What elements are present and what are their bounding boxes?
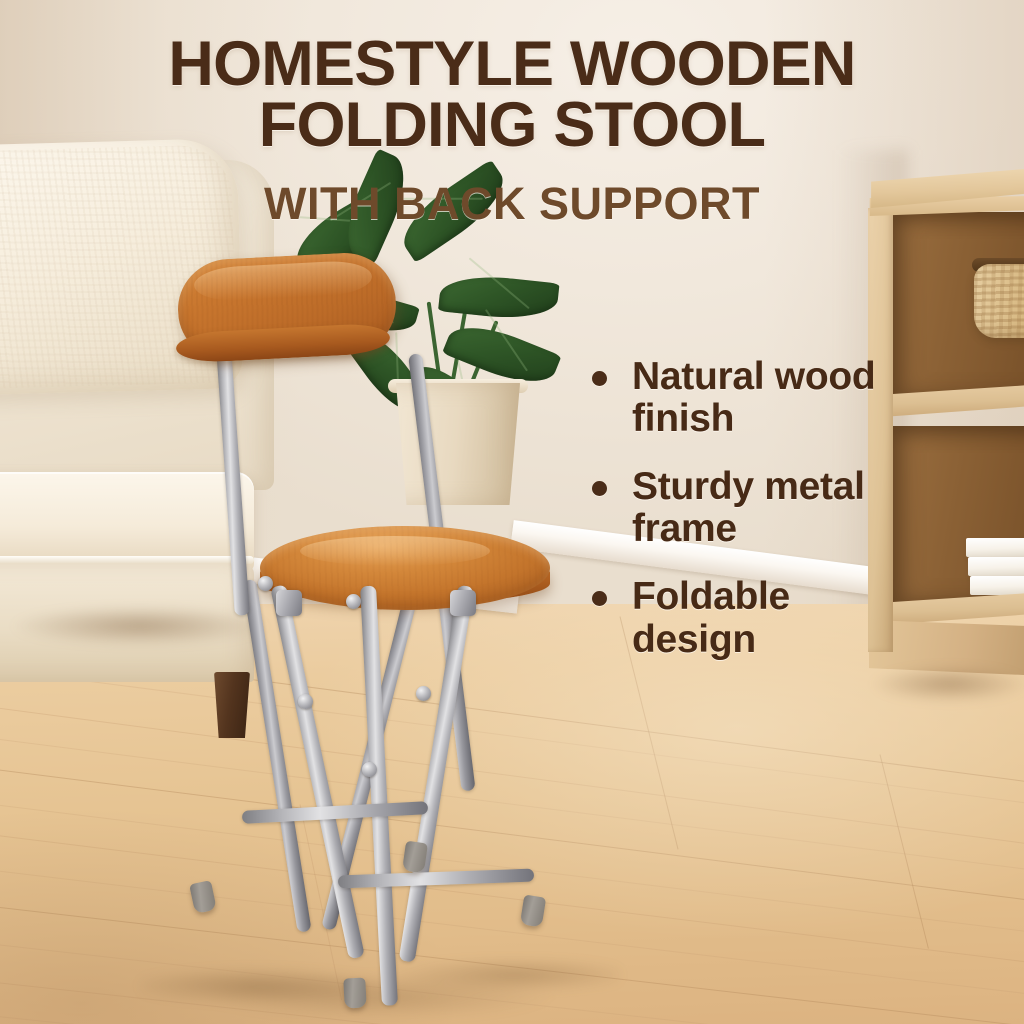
stool-foot-front-left — [343, 977, 367, 1008]
stool-hinge-bracket-right — [450, 590, 476, 616]
list-item: Natural wood finish — [588, 356, 918, 440]
feature-label: Foldable design — [632, 576, 918, 660]
stool-rivet-cross — [362, 762, 377, 777]
feature-list: Natural wood finish Sturdy metal frame F… — [588, 356, 918, 687]
stool-seat-surface — [260, 526, 550, 610]
product-title: HOMESTYLE WOODEN FOLDING STOOL — [0, 34, 1024, 156]
bullet-dot-icon — [592, 481, 607, 496]
list-item: Foldable design — [588, 576, 918, 660]
title-line-1: HOMESTYLE WOODEN — [168, 29, 855, 99]
title-line-2: FOLDING STOOL — [0, 95, 1024, 156]
bullet-dot-icon — [592, 371, 607, 386]
product-subtitle: WITH BACK SUPPORT — [0, 178, 1024, 230]
feature-label: Sturdy metal frame — [632, 466, 918, 550]
feature-label: Natural wood finish — [632, 356, 918, 440]
stool-hinge-bracket-left — [276, 590, 302, 616]
stool-rivet-left — [258, 576, 273, 591]
bullet-dot-icon — [592, 591, 607, 606]
list-item: Sturdy metal frame — [588, 466, 918, 550]
stool-rivet-mid-right — [416, 686, 431, 701]
stool-rivet-seat — [346, 594, 361, 609]
stool-rivet-mid-left — [298, 694, 313, 709]
product-marketing-image: HOMESTYLE WOODEN FOLDING STOOL WITH BACK… — [0, 0, 1024, 1024]
